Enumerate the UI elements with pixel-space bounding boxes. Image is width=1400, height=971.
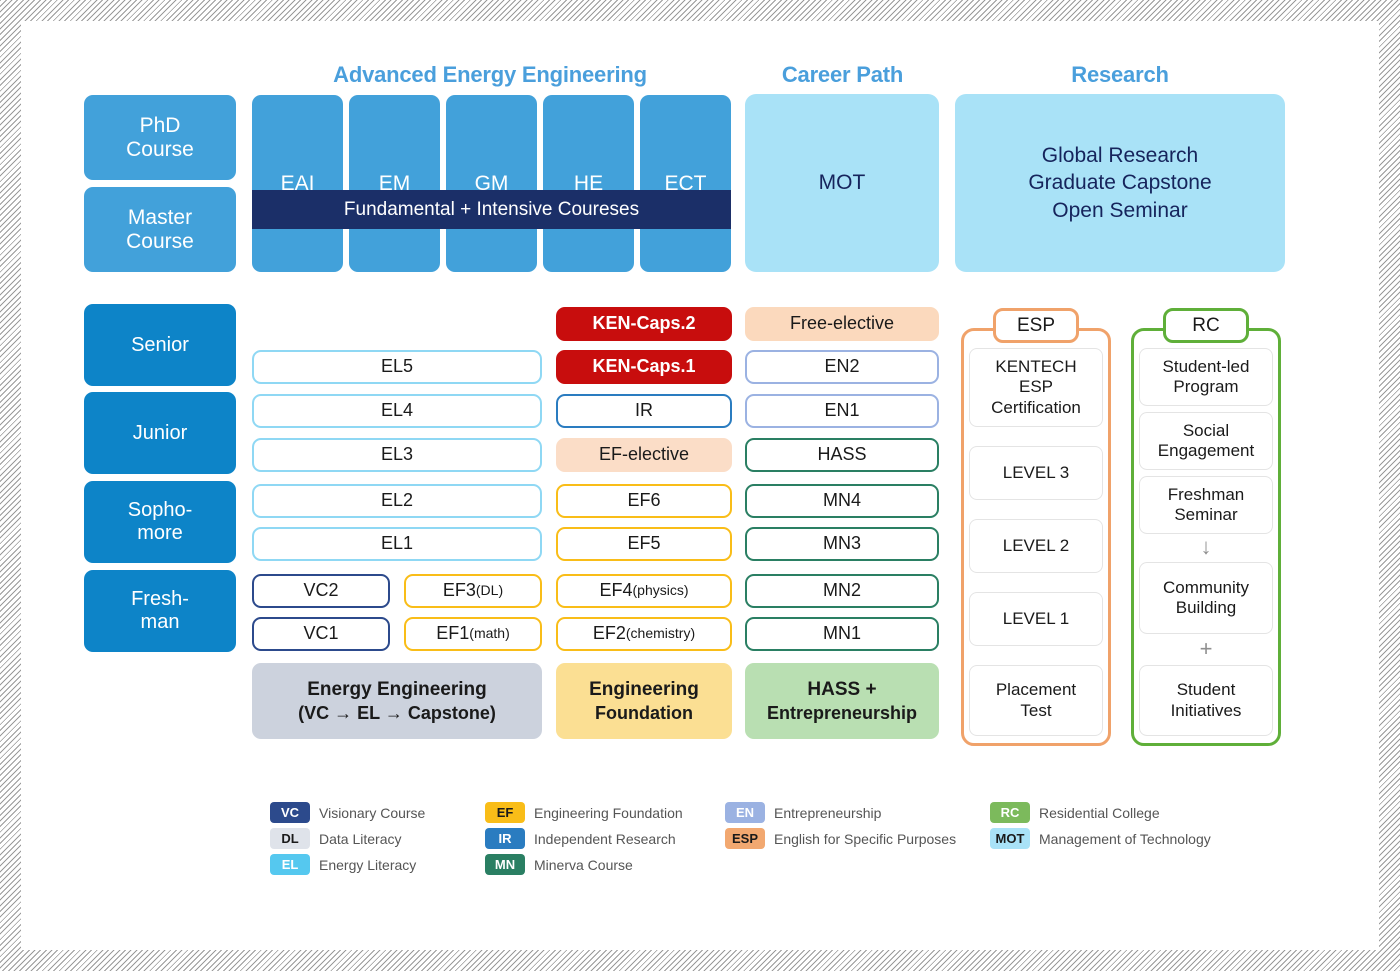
year-chip-sophomore-line2: more — [137, 522, 183, 545]
esp-item-kentech-certification[interactable]: KENTECH ESP Certification — [969, 348, 1103, 427]
legend-label-ef: Engineering Foundation — [534, 805, 683, 821]
rc-item-freshman-seminar-line2: Seminar — [1174, 505, 1237, 525]
year-chip-junior-label: Junior — [133, 422, 187, 445]
course-mn2[interactable]: MN2 — [745, 574, 939, 608]
rc-item-community-building-line2: Building — [1176, 598, 1237, 618]
esp-item-level-3[interactable]: LEVEL 3 — [969, 446, 1103, 500]
course-hass-label: HASS — [817, 445, 866, 465]
legend-tag-rc: RC — [990, 802, 1030, 823]
esp-item-level-2-label: LEVEL 2 — [1003, 536, 1069, 556]
down-arrow-glyph: ↓ — [1201, 534, 1212, 560]
research-line-2: Graduate Capstone — [1028, 169, 1211, 196]
legend-item-esp: ESP English for Specific Purposes — [725, 828, 956, 849]
esp-item-placement-line2: Test — [1020, 701, 1051, 721]
legend-label-mn: Minerva Course — [534, 857, 633, 873]
course-ef5[interactable]: EF5 — [556, 527, 732, 561]
rc-item-social-engagement-line2: Engagement — [1158, 441, 1254, 461]
year-chip-junior[interactable]: Junior — [84, 392, 236, 474]
grad-level-phd[interactable]: PhD Course — [84, 95, 236, 180]
course-ken-caps-1-label: KEN-Caps.1 — [592, 357, 695, 377]
legend-item-el: EL Energy Literacy — [270, 854, 416, 875]
rc-item-student-initiatives-line1: Student — [1177, 680, 1236, 700]
course-el4-label: EL4 — [381, 401, 413, 421]
career-path-mot-label: MOT — [819, 169, 866, 196]
esp-item-level-2[interactable]: LEVEL 2 — [969, 519, 1103, 573]
course-mn4[interactable]: MN4 — [745, 484, 939, 518]
course-ef2-sub: (chemistry) — [626, 626, 695, 641]
legend-label-dl: Data Literacy — [319, 831, 401, 847]
grad-level-master-line1: Master — [128, 206, 192, 230]
legend-tag-ir: IR — [485, 828, 525, 849]
course-ef3-sub: (DL) — [476, 583, 503, 598]
course-mn2-label: MN2 — [823, 581, 861, 601]
rc-item-student-led-program[interactable]: Student-led Program — [1139, 348, 1273, 406]
legend-item-en: EN Entrepreneurship — [725, 802, 881, 823]
course-ef5-label: EF5 — [627, 534, 660, 554]
legend-tag-mn: MN — [485, 854, 525, 875]
year-chip-senior[interactable]: Senior — [84, 304, 236, 386]
legend-tag-vc: VC — [270, 802, 310, 823]
course-en1[interactable]: EN1 — [745, 394, 939, 428]
course-en1-label: EN1 — [824, 401, 859, 421]
legend-item-ef: EF Engineering Foundation — [485, 802, 683, 823]
legend-tag-mot: MOT — [990, 828, 1030, 849]
esp-item-kentech-line3: Certification — [991, 398, 1081, 418]
course-mn3[interactable]: MN3 — [745, 527, 939, 561]
course-el2-label: EL2 — [381, 491, 413, 511]
aee-column-ect[interactable]: ECT — [640, 95, 731, 272]
grad-level-phd-line1: PhD — [140, 114, 181, 138]
course-el5[interactable]: EL5 — [252, 350, 542, 384]
course-el3[interactable]: EL3 — [252, 438, 542, 472]
legend-tag-dl: DL — [270, 828, 310, 849]
research-line-3: Open Seminar — [1052, 197, 1187, 224]
summary-hass-entrepreneurship: HASS + Entrepreneurship — [745, 663, 939, 739]
legend-label-el: Energy Literacy — [319, 857, 416, 873]
summary-engineering-foundation-line1: Engineering — [589, 678, 699, 702]
research-panel[interactable]: Global Research Graduate Capstone Open S… — [955, 94, 1285, 272]
rc-item-student-initiatives-line2: Initiatives — [1171, 701, 1242, 721]
course-ef1-main: EF1 — [436, 624, 469, 644]
legend-tag-el: EL — [270, 854, 310, 875]
legend-label-rc: Residential College — [1039, 805, 1160, 821]
esp-group-tab-label: ESP — [1017, 315, 1055, 337]
esp-group-tab[interactable]: ESP — [993, 308, 1079, 343]
down-arrow-icon: ↓ — [1139, 534, 1273, 560]
summary-hass-entrepreneurship-line1: HASS + — [807, 678, 876, 702]
section-title-research: Research — [955, 62, 1285, 88]
course-ef4-sub: (physics) — [633, 583, 689, 598]
esp-item-kentech-line2: ESP — [1019, 377, 1053, 397]
aee-column-he[interactable]: HE — [543, 95, 634, 272]
year-chip-sophomore-line1: Sopho- — [128, 499, 193, 522]
course-ef3-main: EF3 — [443, 581, 476, 601]
course-mn3-label: MN3 — [823, 534, 861, 554]
course-el2[interactable]: EL2 — [252, 484, 542, 518]
legend-item-mot: MOT Management of Technology — [990, 828, 1211, 849]
course-ir[interactable]: IR — [556, 394, 732, 428]
legend-tag-esp: ESP — [725, 828, 765, 849]
summary-energy-engineering-line2: (VC → EL → Capstone) — [298, 702, 496, 725]
legend-label-esp: English for Specific Purposes — [774, 831, 956, 847]
year-chip-senior-label: Senior — [131, 334, 189, 357]
rc-item-student-led-line1: Student-led — [1163, 357, 1250, 377]
course-el4[interactable]: EL4 — [252, 394, 542, 428]
year-chip-freshman[interactable]: Fresh- man — [84, 570, 236, 652]
grad-level-master[interactable]: Master Course — [84, 187, 236, 272]
course-free-elective-label: Free-elective — [790, 314, 894, 334]
legend-item-rc: RC Residential College — [990, 802, 1160, 823]
aee-column-eai[interactable]: EAI — [252, 95, 343, 272]
grad-level-master-line2: Course — [126, 230, 194, 254]
course-ef2-main: EF2 — [593, 624, 626, 644]
course-mn1[interactable]: MN1 — [745, 617, 939, 651]
course-ef4-main: EF4 — [599, 581, 632, 601]
legend-tag-en: EN — [725, 802, 765, 823]
summary-engineering-foundation: Engineering Foundation — [556, 663, 732, 739]
plus-glyph: + — [1200, 636, 1213, 662]
course-el1[interactable]: EL1 — [252, 527, 542, 561]
summary-engineering-foundation-line2: Foundation — [595, 702, 693, 725]
year-chip-freshman-line1: Fresh- — [131, 588, 189, 611]
legend-item-mn: MN Minerva Course — [485, 854, 633, 875]
course-ef6[interactable]: EF6 — [556, 484, 732, 518]
course-ef3-dl[interactable]: EF3(DL) — [404, 574, 542, 608]
course-hass[interactable]: HASS — [745, 438, 939, 472]
esp-item-level-1[interactable]: LEVEL 1 — [969, 592, 1103, 646]
rc-item-community-building[interactable]: Community Building — [1139, 562, 1273, 634]
summary-hass-entrepreneurship-line2: Entrepreneurship — [767, 702, 917, 725]
section-title-advanced-energy-engineering: Advanced Energy Engineering — [255, 62, 725, 88]
research-line-1: Global Research — [1042, 142, 1198, 169]
course-vc2-label: VC2 — [303, 581, 338, 601]
rc-item-social-engagement-line1: Social — [1183, 421, 1229, 441]
course-el5-label: EL5 — [381, 357, 413, 377]
aee-fundamental-intensive-band: Fundamental + Intensive Coureses — [252, 190, 731, 229]
course-en2-label: EN2 — [824, 357, 859, 377]
esp-item-level-3-label: LEVEL 3 — [1003, 463, 1069, 483]
course-vc1-label: VC1 — [303, 624, 338, 644]
rc-item-freshman-seminar[interactable]: Freshman Seminar — [1139, 476, 1273, 534]
rc-item-social-engagement[interactable]: Social Engagement — [1139, 412, 1273, 470]
plus-icon: + — [1139, 636, 1273, 662]
legend-label-ir: Independent Research — [534, 831, 676, 847]
course-ef6-label: EF6 — [627, 491, 660, 511]
course-ef1-sub: (math) — [469, 626, 509, 641]
legend-item-vc: VC Visionary Course — [270, 802, 425, 823]
legend-item-dl: DL Data Literacy — [270, 828, 401, 849]
course-mn1-label: MN1 — [823, 624, 861, 644]
summary-energy-engineering-line1: Energy Engineering — [307, 678, 486, 702]
rc-item-student-initiatives[interactable]: Student Initiatives — [1139, 665, 1273, 736]
course-ef-elective-label: EF-elective — [599, 445, 689, 465]
section-title-career-path: Career Path — [745, 62, 940, 88]
course-vc1[interactable]: VC1 — [252, 617, 390, 651]
course-el3-label: EL3 — [381, 445, 413, 465]
legend-tag-ef: EF — [485, 802, 525, 823]
esp-item-level-1-label: LEVEL 1 — [1003, 609, 1069, 629]
course-el1-label: EL1 — [381, 534, 413, 554]
legend-label-en: Entrepreneurship — [774, 805, 881, 821]
curriculum-diagram: Advanced Energy Engineering Career Path … — [0, 0, 1400, 971]
esp-item-placement-test[interactable]: Placement Test — [969, 665, 1103, 736]
course-ef2-chemistry[interactable]: EF2(chemistry) — [556, 617, 732, 651]
esp-item-placement-line1: Placement — [996, 680, 1076, 700]
career-path-mot-panel[interactable]: MOT — [745, 94, 939, 272]
course-ken-caps-1[interactable]: KEN-Caps.1 — [556, 350, 732, 384]
course-free-elective[interactable]: Free-elective — [745, 307, 939, 341]
course-ken-caps-2[interactable]: KEN-Caps.2 — [556, 307, 732, 341]
course-ken-caps-2-label: KEN-Caps.2 — [592, 314, 695, 334]
course-ef4-physics[interactable]: EF4(physics) — [556, 574, 732, 608]
course-ir-label: IR — [635, 401, 653, 421]
legend-label-vc: Visionary Course — [319, 805, 425, 821]
aee-column-em[interactable]: EM — [349, 95, 440, 272]
course-mn4-label: MN4 — [823, 491, 861, 511]
rc-item-community-building-line1: Community — [1163, 578, 1249, 598]
rc-group-tab[interactable]: RC — [1163, 308, 1249, 343]
legend-label-mot: Management of Technology — [1039, 831, 1211, 847]
aee-column-gm[interactable]: GM — [446, 95, 537, 272]
esp-item-kentech-line1: KENTECH — [995, 357, 1076, 377]
rc-group-tab-label: RC — [1192, 315, 1219, 337]
course-ef-elective[interactable]: EF-elective — [556, 438, 732, 472]
legend-item-ir: IR Independent Research — [485, 828, 676, 849]
rc-item-student-led-line2: Program — [1173, 377, 1238, 397]
course-en2[interactable]: EN2 — [745, 350, 939, 384]
course-ef1-math[interactable]: EF1(math) — [404, 617, 542, 651]
grad-level-phd-line2: Course — [126, 138, 194, 162]
year-chip-freshman-line2: man — [141, 611, 180, 634]
summary-energy-engineering: Energy Engineering (VC → EL → Capstone) — [252, 663, 542, 739]
course-vc2[interactable]: VC2 — [252, 574, 390, 608]
aee-fundamental-intensive-label: Fundamental + Intensive Coureses — [344, 199, 639, 221]
rc-item-freshman-seminar-line1: Freshman — [1168, 485, 1245, 505]
year-chip-sophomore[interactable]: Sopho- more — [84, 481, 236, 563]
